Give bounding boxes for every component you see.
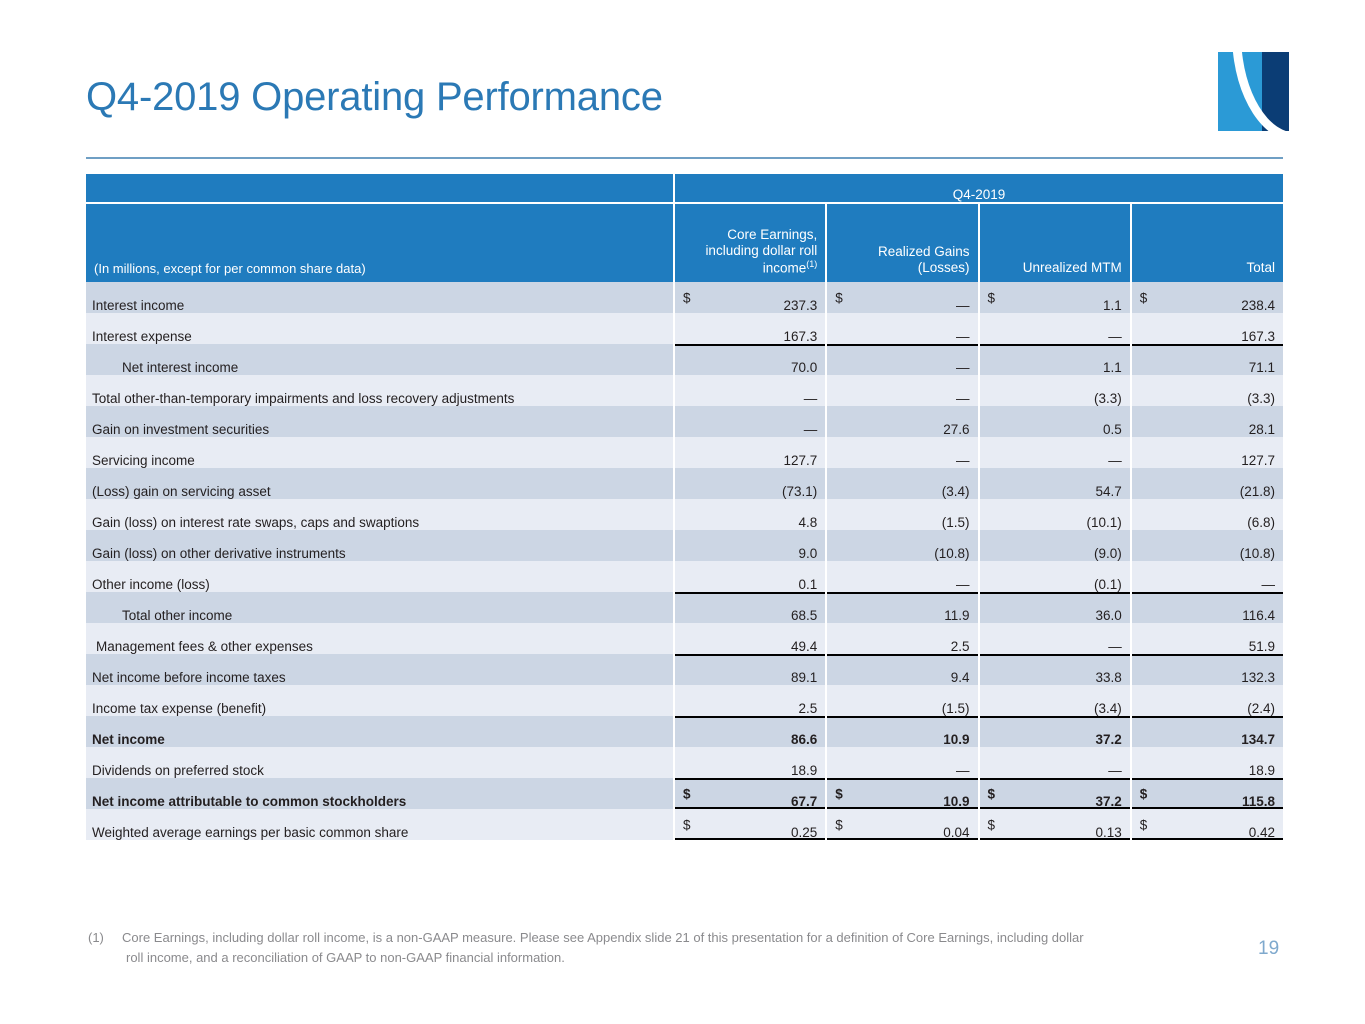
row-label: Gain on investment securities [86, 406, 674, 437]
header-units-note: (In millions, except for per common shar… [86, 203, 674, 282]
cell-value: (10.8) [1131, 530, 1283, 561]
row-label: Servicing income [86, 437, 674, 468]
cell-value: 134.7 [1131, 716, 1283, 747]
cell-number: 70.0 [791, 360, 817, 375]
header-col-total: Total [1131, 203, 1283, 282]
cell-number: — [804, 391, 818, 406]
currency-symbol: $ [988, 786, 996, 801]
table-row: Total other income68.511.936.0116.4 [86, 592, 1283, 623]
cell-number: (10.1) [1086, 515, 1121, 530]
cell-number: (3.4) [942, 484, 970, 499]
cell-number: 0.25 [791, 825, 817, 840]
cell-value: 68.5 [674, 592, 826, 623]
currency-symbol: $ [988, 290, 996, 305]
cell-number: 28.1 [1249, 422, 1275, 437]
cell-number: (1.5) [942, 515, 970, 530]
cell-number: — [1108, 639, 1122, 654]
cell-number: 116.4 [1242, 608, 1275, 623]
cell-number: 27.6 [943, 422, 969, 437]
cell-value: $1.1 [979, 282, 1131, 313]
cell-value: 9.4 [826, 654, 978, 685]
table-row: Gain (loss) on other derivative instrume… [86, 530, 1283, 561]
cell-value: (6.8) [1131, 499, 1283, 530]
table-row: Net interest income70.0—1.171.1 [86, 344, 1283, 375]
cell-value: 27.6 [826, 406, 978, 437]
cell-value: (21.8) [1131, 468, 1283, 499]
table-row: Total other-than-temporary impairments a… [86, 375, 1283, 406]
cell-value: (3.4) [979, 685, 1131, 716]
cell-number: — [1108, 763, 1122, 778]
row-label: Total other-than-temporary impairments a… [86, 375, 674, 406]
cell-number: (10.8) [1240, 546, 1275, 561]
cell-value: (10.1) [979, 499, 1131, 530]
header-spacer [86, 174, 674, 203]
cell-number: 2.5 [951, 639, 970, 654]
table-row: Gain (loss) on interest rate swaps, caps… [86, 499, 1283, 530]
cell-number: — [1262, 577, 1276, 592]
cell-number: — [956, 298, 970, 313]
row-label: Interest income [86, 282, 674, 313]
cell-number: (21.8) [1240, 484, 1275, 499]
cell-value: (1.5) [826, 499, 978, 530]
cell-number: 49.4 [791, 639, 817, 654]
cell-value: (3.4) [826, 468, 978, 499]
cell-value: (73.1) [674, 468, 826, 499]
cell-value: $115.8 [1131, 778, 1283, 809]
cell-number: — [956, 453, 970, 468]
cell-number: (6.8) [1247, 515, 1275, 530]
currency-symbol: $ [683, 290, 691, 305]
table-row: Net income before income taxes89.19.433.… [86, 654, 1283, 685]
cell-value: — [826, 375, 978, 406]
cell-number: — [956, 329, 970, 344]
cell-value: — [674, 406, 826, 437]
cell-number: (10.8) [934, 546, 969, 561]
cell-number: 238.4 [1241, 298, 1275, 313]
cell-number: 10.9 [943, 732, 969, 747]
row-label: (Loss) gain on servicing asset [86, 468, 674, 499]
cell-value: 127.7 [674, 437, 826, 468]
currency-symbol: $ [835, 786, 843, 801]
cell-value: $10.9 [826, 778, 978, 809]
cell-value: — [979, 437, 1131, 468]
cell-value: 9.0 [674, 530, 826, 561]
cell-number: 36.0 [1095, 608, 1121, 623]
row-label: Dividends on preferred stock [86, 747, 674, 778]
cell-number: 37.2 [1095, 794, 1121, 809]
cell-number: — [804, 422, 818, 437]
cell-number: — [1108, 453, 1122, 468]
cell-number: 11.9 [944, 608, 969, 623]
cell-number: 86.6 [791, 732, 817, 747]
cell-number: (1.5) [942, 701, 970, 716]
cell-value: — [826, 344, 978, 375]
cell-value: 36.0 [979, 592, 1131, 623]
operating-performance-table: Q4-2019 (In millions, except for per com… [86, 174, 1283, 840]
cell-value: (3.3) [1131, 375, 1283, 406]
table-body: Interest income$237.3$—$1.1$238.4Interes… [86, 282, 1283, 840]
cell-value: (0.1) [979, 561, 1131, 592]
cell-number: 89.1 [791, 670, 817, 685]
cell-value: 33.8 [979, 654, 1131, 685]
table-row: Interest income$237.3$—$1.1$238.4 [86, 282, 1283, 313]
cell-value: (3.3) [979, 375, 1131, 406]
row-label: Net income attributable to common stockh… [86, 778, 674, 809]
cell-number: 167.3 [783, 329, 817, 344]
cell-number: 37.2 [1095, 732, 1121, 747]
page-number: 19 [1258, 938, 1279, 960]
cell-value: — [1131, 561, 1283, 592]
currency-symbol: $ [988, 817, 996, 832]
cell-value: — [979, 623, 1131, 654]
cell-number: (3.3) [1247, 391, 1275, 406]
cell-value: $0.42 [1131, 809, 1283, 840]
row-label: Weighted average earnings per basic comm… [86, 809, 674, 840]
row-label: Net income [86, 716, 674, 747]
cell-value: — [979, 313, 1131, 344]
cell-number: 237.3 [783, 298, 817, 313]
row-label: Gain (loss) on interest rate swaps, caps… [86, 499, 674, 530]
cell-number: (9.0) [1094, 546, 1122, 561]
cell-value: 167.3 [674, 313, 826, 344]
cell-number: 1.1 [1103, 360, 1122, 375]
currency-symbol: $ [683, 786, 691, 801]
cell-value: 51.9 [1131, 623, 1283, 654]
row-label: Gain (loss) on other derivative instrume… [86, 530, 674, 561]
cell-value: (2.4) [1131, 685, 1283, 716]
table-row: Management fees & other expenses49.42.5—… [86, 623, 1283, 654]
cell-value: 11.9 [826, 592, 978, 623]
cell-number: 0.04 [943, 825, 969, 840]
cell-number: 54.7 [1095, 484, 1121, 499]
row-label: Interest expense [86, 313, 674, 344]
table-row: (Loss) gain on servicing asset(73.1)(3.4… [86, 468, 1283, 499]
header-col-realized-gains: Realized Gains (Losses) [826, 203, 978, 282]
cell-value: 70.0 [674, 344, 826, 375]
row-label: Total other income [86, 592, 674, 623]
core-line-3: income [763, 260, 807, 275]
cell-value: (10.8) [826, 530, 978, 561]
cell-number: — [956, 763, 970, 778]
cell-value: 86.6 [674, 716, 826, 747]
cell-number: 0.1 [798, 577, 817, 592]
footnote: (1)Core Earnings, including dollar roll … [88, 928, 1238, 968]
cell-value: — [826, 437, 978, 468]
cell-number: 9.4 [951, 670, 970, 685]
table-row: Other income (loss)0.1—(0.1)— [86, 561, 1283, 592]
cell-number: 68.5 [791, 608, 817, 623]
footnote-line-1: Core Earnings, including dollar roll inc… [122, 930, 1084, 945]
realized-line-2: (Losses) [918, 260, 970, 275]
currency-symbol: $ [835, 817, 843, 832]
footnote-marker: (1) [88, 928, 122, 948]
cell-value: 89.1 [674, 654, 826, 685]
cell-number: — [956, 360, 970, 375]
core-footnote-marker: (1) [806, 259, 817, 269]
cell-value: — [674, 375, 826, 406]
cell-value: (1.5) [826, 685, 978, 716]
row-label: Management fees & other expenses [86, 623, 674, 654]
cell-number: (2.4) [1247, 701, 1275, 716]
cell-value: 4.8 [674, 499, 826, 530]
cell-value: $— [826, 282, 978, 313]
cell-value: 116.4 [1131, 592, 1283, 623]
footnote-line-2: roll income, and a reconciliation of GAA… [88, 948, 1238, 968]
cell-number: 134.7 [1241, 732, 1275, 747]
cell-number: 10.9 [943, 794, 969, 809]
cell-number: 33.8 [1095, 670, 1121, 685]
cell-number: 0.13 [1095, 825, 1121, 840]
cell-value: 18.9 [674, 747, 826, 778]
cell-number: 132.3 [1241, 670, 1275, 685]
cell-value: $237.3 [674, 282, 826, 313]
cell-number: 1.1 [1103, 298, 1122, 313]
table-row: Servicing income127.7——127.7 [86, 437, 1283, 468]
table-row: Income tax expense (benefit)2.5(1.5)(3.4… [86, 685, 1283, 716]
cell-number: 9.0 [798, 546, 817, 561]
cell-value: 167.3 [1131, 313, 1283, 344]
cell-number: — [1108, 329, 1122, 344]
row-label: Other income (loss) [86, 561, 674, 592]
cell-number: 18.9 [791, 763, 817, 778]
cell-value: 18.9 [1131, 747, 1283, 778]
table-row: Dividends on preferred stock18.9——18.9 [86, 747, 1283, 778]
company-logo [1218, 52, 1289, 131]
cell-value: 2.5 [674, 685, 826, 716]
title-divider [86, 157, 1283, 159]
table-header-period-row: Q4-2019 [86, 174, 1283, 203]
cell-number: 167.3 [1241, 329, 1275, 344]
cell-value: 71.1 [1131, 344, 1283, 375]
cell-number: (73.1) [782, 484, 817, 499]
cell-value: — [826, 561, 978, 592]
table-row: Net income86.610.937.2134.7 [86, 716, 1283, 747]
cell-value: 132.3 [1131, 654, 1283, 685]
cell-number: 51.9 [1249, 639, 1275, 654]
cell-value: 1.1 [979, 344, 1131, 375]
header-col-core-earnings: Core Earnings, including dollar roll inc… [674, 203, 826, 282]
cell-number: 71.1 [1249, 360, 1275, 375]
cell-value: 28.1 [1131, 406, 1283, 437]
core-line-1: Core Earnings, [727, 227, 817, 242]
cell-number: (0.1) [1094, 577, 1122, 592]
cell-value: 0.1 [674, 561, 826, 592]
table-header-columns-row: (In millions, except for per common shar… [86, 203, 1283, 282]
cell-value: $0.13 [979, 809, 1131, 840]
page-title: Q4-2019 Operating Performance [86, 75, 663, 120]
cell-value: $0.04 [826, 809, 978, 840]
cell-value: $0.25 [674, 809, 826, 840]
cell-number: — [956, 577, 970, 592]
cell-value: 0.5 [979, 406, 1131, 437]
cell-number: 18.9 [1249, 763, 1275, 778]
cell-number: — [956, 391, 970, 406]
cell-value: 10.9 [826, 716, 978, 747]
cell-value: $37.2 [979, 778, 1131, 809]
cell-value: 49.4 [674, 623, 826, 654]
cell-value: (9.0) [979, 530, 1131, 561]
table-row: Gain on investment securities—27.60.528.… [86, 406, 1283, 437]
cell-number: 0.5 [1103, 422, 1122, 437]
currency-symbol: $ [1140, 786, 1148, 801]
cell-value: 37.2 [979, 716, 1131, 747]
cell-number: 127.7 [783, 453, 817, 468]
currency-symbol: $ [1140, 817, 1148, 832]
cell-value: — [826, 747, 978, 778]
cell-number: 4.8 [798, 515, 817, 530]
cell-value: $238.4 [1131, 282, 1283, 313]
core-line-2: including dollar roll [705, 243, 817, 258]
row-label: Income tax expense (benefit) [86, 685, 674, 716]
cell-value: 54.7 [979, 468, 1131, 499]
currency-symbol: $ [835, 290, 843, 305]
table-row: Net income attributable to common stockh… [86, 778, 1283, 809]
row-label: Net interest income [86, 344, 674, 375]
realized-line-1: Realized Gains [878, 244, 970, 259]
cell-number: 0.42 [1249, 825, 1275, 840]
cell-number: (3.4) [1094, 701, 1122, 716]
cell-number: 115.8 [1242, 794, 1275, 809]
table-row: Weighted average earnings per basic comm… [86, 809, 1283, 840]
cell-value: $67.7 [674, 778, 826, 809]
header-period-label: Q4-2019 [674, 174, 1283, 203]
cell-number: 127.7 [1241, 453, 1275, 468]
row-label: Net income before income taxes [86, 654, 674, 685]
cell-number: 67.7 [791, 794, 817, 809]
table-row: Interest expense167.3——167.3 [86, 313, 1283, 344]
cell-number: (3.3) [1094, 391, 1122, 406]
cell-value: — [979, 747, 1131, 778]
header-col-unrealized-mtm: Unrealized MTM [979, 203, 1131, 282]
cell-value: 127.7 [1131, 437, 1283, 468]
currency-symbol: $ [683, 817, 691, 832]
currency-symbol: $ [1140, 290, 1148, 305]
cell-number: 2.5 [798, 701, 817, 716]
cell-value: — [826, 313, 978, 344]
cell-value: 2.5 [826, 623, 978, 654]
